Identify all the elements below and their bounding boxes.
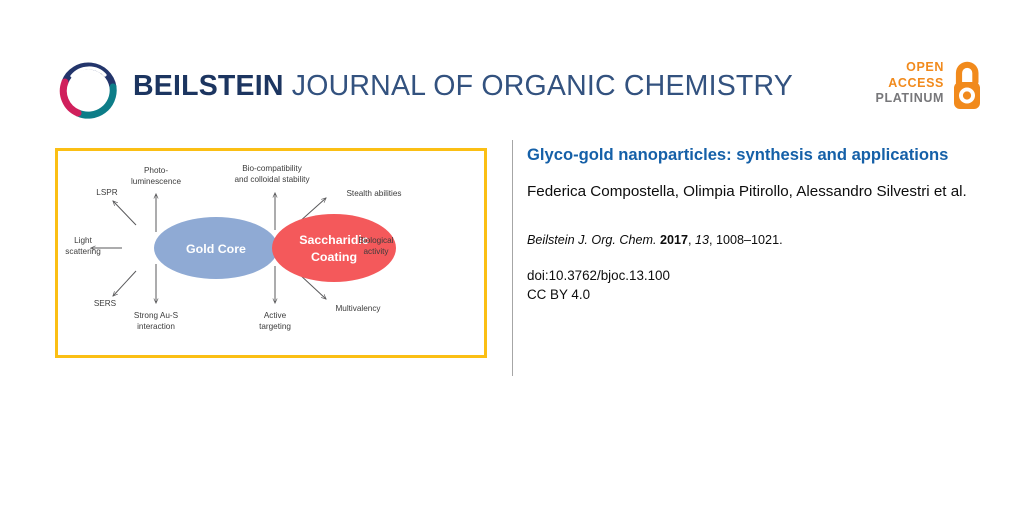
wordmark-journal-of-organic-chemistry: JOURNAL OF ORGANIC CHEMISTRY (284, 70, 793, 102)
article-authors: Federica Compostella, Olimpia Pitirollo,… (527, 182, 967, 203)
page-header: BEILSTEIN JOURNAL OF ORGANIC CHEMISTRY O… (0, 0, 1024, 132)
label-multivalency: Multivalency (335, 304, 381, 313)
article-title[interactable]: Glyco-gold nanoparticles: synthesis and … (527, 145, 989, 164)
citation-separator-1: , (688, 233, 695, 247)
label-sers: SERS (94, 299, 117, 308)
wordmark-beilstein: BEILSTEIN (133, 70, 284, 102)
label-photoluminescence-line1: Photo- (144, 166, 168, 175)
graphical-abstract: Gold Core Saccharidic Coating Photo- lum… (55, 148, 487, 358)
article-info: Glyco-gold nanoparticles: synthesis and … (527, 145, 997, 304)
label-active-targeting-line1: Active (264, 311, 287, 320)
open-access-line-open: OPEN (876, 60, 944, 76)
beilstein-spiral-logo-icon (55, 56, 121, 122)
label-stealth-abilities: Stealth abilities (346, 189, 401, 198)
label-biocompatibility-line1: Bio-compatibility (242, 164, 303, 173)
graphical-abstract-diagram: Gold Core Saccharidic Coating Photo- lum… (58, 151, 484, 355)
citation-journal: Beilstein J. Org. Chem. (527, 233, 656, 247)
column-divider (512, 140, 513, 376)
label-strong-au-s-line1: Strong Au-S (134, 311, 179, 320)
article-license[interactable]: CC BY 4.0 (527, 285, 997, 304)
article-doi[interactable]: doi:10.3762/bjoc.13.100 (527, 266, 997, 285)
label-photoluminescence-line2: luminescence (131, 177, 182, 186)
saccharidic-coating-label-line2: Coating (311, 250, 357, 264)
gold-core-label: Gold Core (186, 242, 246, 256)
label-light-scattering-line2: scattering (65, 247, 101, 256)
label-biocompatibility-line2: and colloidal stability (234, 175, 310, 184)
label-lspr: LSPR (96, 188, 117, 197)
citation-volume: 13 (695, 233, 709, 247)
open-access-line-platinum: PLATINUM (876, 91, 944, 107)
citation-pages: 1008–1021. (716, 233, 783, 247)
label-light-scattering-line1: Light (74, 236, 92, 245)
citation-separator-2: , (709, 233, 716, 247)
article-citation: Beilstein J. Org. Chem. 2017, 13, 1008–1… (527, 232, 997, 249)
label-active-targeting-line2: targeting (259, 322, 291, 331)
open-access-label: OPEN ACCESS PLATINUM (876, 60, 944, 107)
open-access-badge: OPEN ACCESS PLATINUM (872, 60, 984, 118)
open-access-line-access: ACCESS (876, 76, 944, 92)
label-biological-activity-line1: Biological (358, 236, 393, 245)
label-biological-activity-line2: activity (363, 247, 389, 256)
open-padlock-icon (950, 60, 984, 112)
citation-year: 2017 (660, 233, 688, 247)
article-meta: doi:10.3762/bjoc.13.100 CC BY 4.0 (527, 266, 997, 304)
journal-wordmark: BEILSTEIN JOURNAL OF ORGANIC CHEMISTRY (133, 70, 793, 103)
label-strong-au-s-line2: interaction (137, 322, 175, 331)
